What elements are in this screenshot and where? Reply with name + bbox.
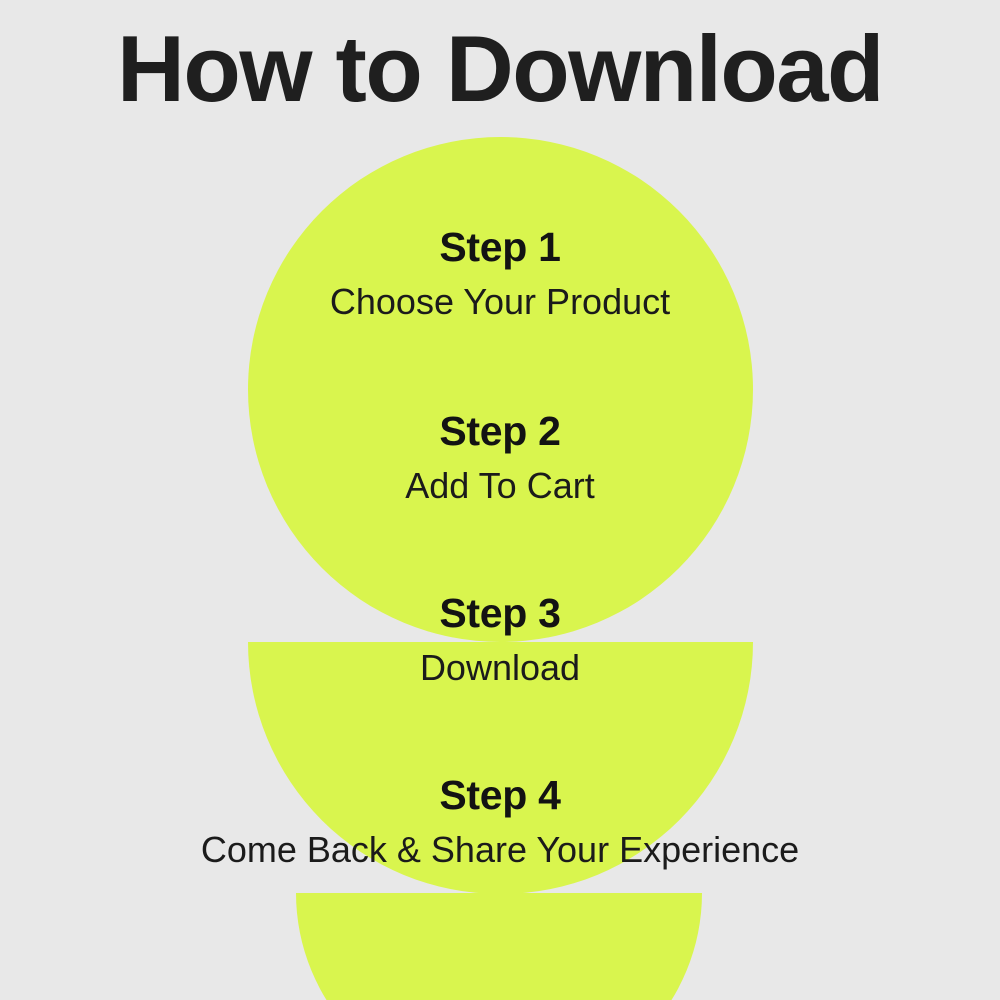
step-3-heading: Step 3	[0, 590, 1000, 637]
step-item-2: Step 2 Add To Cart	[0, 408, 1000, 507]
step-4-caption: Come Back & Share Your Experience	[0, 828, 1000, 871]
page-title: How to Download	[0, 22, 1000, 116]
step-item-1: Step 1 Choose Your Product	[0, 224, 1000, 323]
step-3-caption: Download	[0, 646, 1000, 689]
step-item-4: Step 4 Come Back & Share Your Experience	[0, 772, 1000, 871]
poster-content: How to Download Step 1 Choose Your Produ…	[0, 0, 1000, 1000]
poster-canvas: How to Download Step 1 Choose Your Produ…	[0, 0, 1000, 1000]
step-2-caption: Add To Cart	[0, 464, 1000, 507]
step-1-heading: Step 1	[0, 224, 1000, 271]
step-4-heading: Step 4	[0, 772, 1000, 819]
step-1-caption: Choose Your Product	[0, 280, 1000, 323]
step-item-3: Step 3 Download	[0, 590, 1000, 689]
step-2-heading: Step 2	[0, 408, 1000, 455]
